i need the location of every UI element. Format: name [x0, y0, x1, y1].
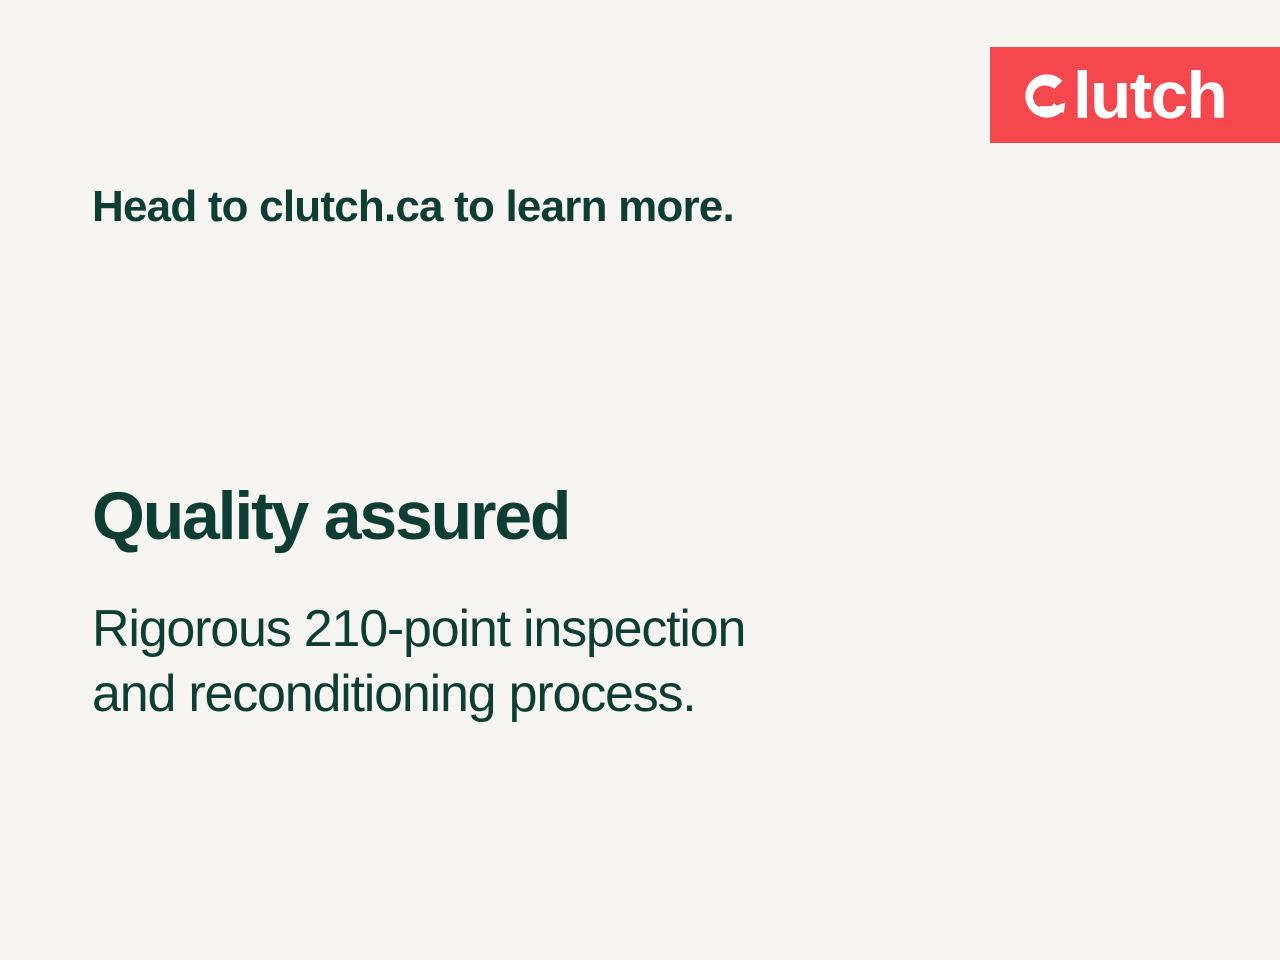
clutch-c-mark-icon	[1024, 73, 1070, 119]
lead-line: Head to clutch.ca to learn more.	[92, 182, 734, 231]
subheadline-line-2: and reconditioning process.	[92, 662, 745, 727]
brand-banner: lutch	[990, 47, 1280, 143]
page-title: Quality assured	[92, 481, 569, 552]
slide-canvas: lutch Head to clutch.ca to learn more. Q…	[0, 0, 1280, 960]
clutch-logo[interactable]: lutch	[1024, 62, 1223, 128]
subheadline: Rigorous 210-point inspection and recond…	[92, 597, 745, 727]
subheadline-line-1: Rigorous 210-point inspection	[92, 597, 745, 662]
clutch-wordmark: lutch	[1073, 62, 1226, 128]
